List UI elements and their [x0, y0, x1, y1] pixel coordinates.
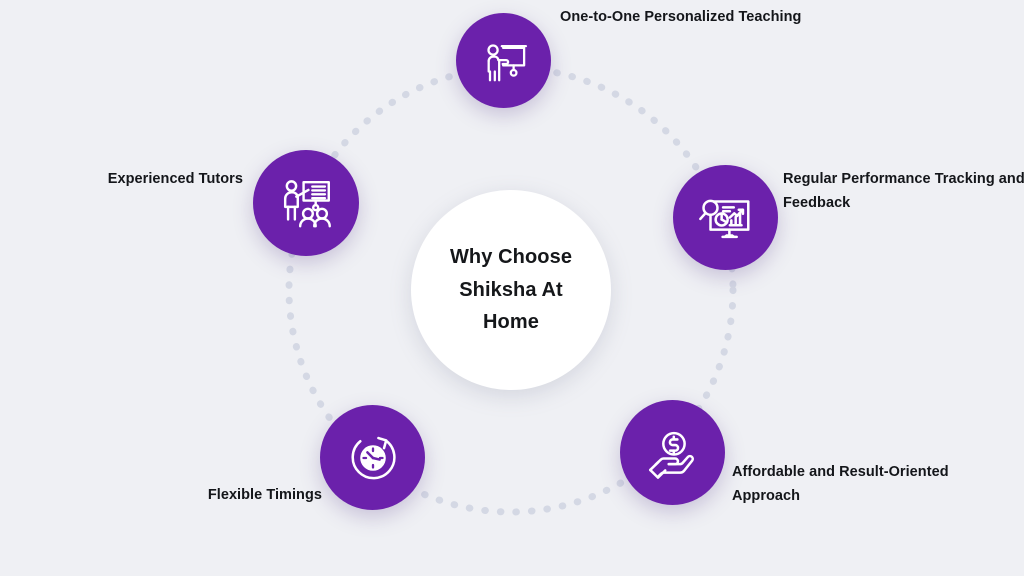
label-flexible-timings: Flexible Timings [82, 483, 322, 507]
label-experienced-tutors: Experienced Tutors [3, 167, 243, 191]
node-performance-tracking[interactable] [673, 165, 778, 270]
infographic-canvas: Why Choose Shiksha At Home [0, 0, 1024, 576]
tutor-classroom-icon [275, 172, 337, 234]
label-one-to-one: One-to-One Personalized Teaching [560, 5, 810, 29]
node-flexible-timings[interactable] [320, 405, 425, 510]
node-one-to-one[interactable] [456, 13, 551, 108]
center-hub: Why Choose Shiksha At Home [411, 190, 611, 390]
label-performance-tracking: Regular Performance Tracking and Feedbac… [783, 167, 1024, 216]
clock-rotate-icon [342, 427, 404, 489]
label-affordable: Affordable and Result-Oriented Approach [732, 460, 982, 509]
node-experienced-tutors[interactable] [253, 150, 359, 256]
presenter-board-icon [476, 33, 532, 89]
hand-holding-coin-icon [642, 422, 704, 484]
monitor-analytics-magnifier-icon [695, 187, 757, 249]
node-affordable[interactable] [620, 400, 725, 505]
hub-title: Why Choose Shiksha At Home [411, 241, 611, 338]
